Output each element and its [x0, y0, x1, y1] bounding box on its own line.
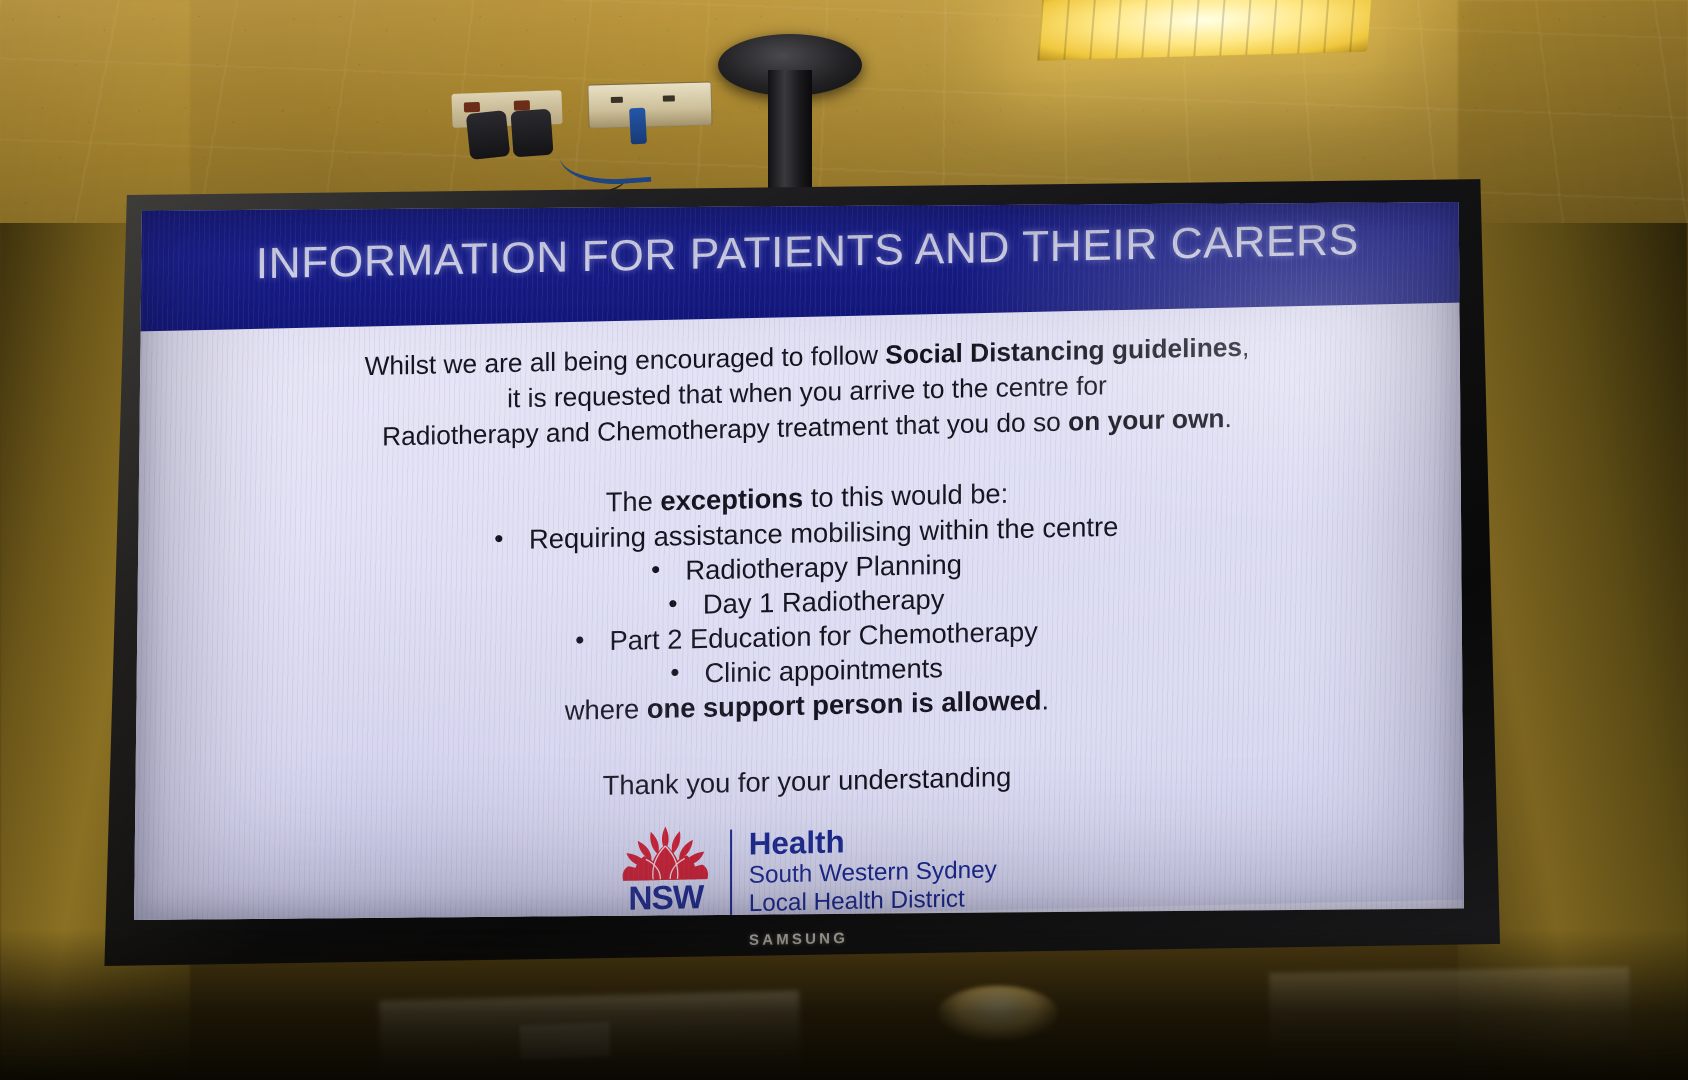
list-item-label: Radiotherapy Planning — [685, 550, 961, 586]
power-outlet-icon — [587, 81, 712, 128]
support-note-post: . — [1042, 685, 1050, 716]
intro-line-3-post: . — [1225, 402, 1232, 433]
intro-line-1-post: , — [1242, 331, 1249, 362]
nsw-wordmark: NSW — [628, 881, 703, 914]
exceptions-list: Requiring assistance mobilising within t… — [134, 504, 1464, 702]
health-wordmark: Health — [749, 823, 997, 862]
logo-divider — [731, 830, 733, 917]
on-your-own-emphasis: on your own — [1068, 403, 1224, 437]
bullet-icon — [496, 535, 503, 542]
ceiling-light-panel-icon — [1037, 0, 1372, 61]
support-person-emphasis: one support person is allowed — [647, 686, 1042, 725]
bullet-icon — [671, 669, 678, 676]
page-title: INFORMATION FOR PATIENTS AND THEIR CARER… — [256, 215, 1359, 289]
exceptions-emphasis: exceptions — [660, 483, 803, 516]
nsw-waratah-icon — [617, 822, 714, 885]
wall-mounted-display: INFORMATION FOR PATIENTS AND THEIR CARER… — [96, 176, 1500, 966]
nsw-health-logo: NSW GOVERNMENT Health South Western Sydn… — [134, 806, 1464, 920]
slide-body: Whilst we are all being encouraged to fo… — [134, 302, 1464, 920]
exceptions-heading-post: to this would be: — [803, 479, 1008, 514]
list-item-label: Part 2 Education for Chemotherapy — [610, 617, 1038, 657]
district-line-2: Local Health District — [749, 884, 997, 917]
tv-screen: INFORMATION FOR PATIENTS AND THEIR CARER… — [134, 202, 1464, 920]
list-item-label: Day 1 Radiotherapy — [703, 585, 945, 621]
bullet-icon — [652, 566, 659, 573]
social-distancing-emphasis: Social Distancing guidelines — [885, 332, 1242, 370]
health-agency-lockup: Health South Western Sydney Local Health… — [749, 823, 997, 917]
exceptions-heading-pre: The — [606, 487, 661, 519]
floor-shadow — [0, 930, 1688, 1080]
room-scene: INFORMATION FOR PATIENTS AND THEIR CARER… — [0, 0, 1688, 1080]
information-slide: INFORMATION FOR PATIENTS AND THEIR CARER… — [134, 202, 1464, 920]
bullet-icon — [576, 636, 583, 643]
thank-you-message: Thank you for your understanding — [134, 752, 1464, 813]
support-note-pre: where — [565, 694, 647, 726]
bullet-icon — [670, 600, 677, 607]
nsw-government-lockup: NSW GOVERNMENT — [617, 822, 714, 920]
list-item-label: Clinic appointments — [704, 653, 942, 689]
